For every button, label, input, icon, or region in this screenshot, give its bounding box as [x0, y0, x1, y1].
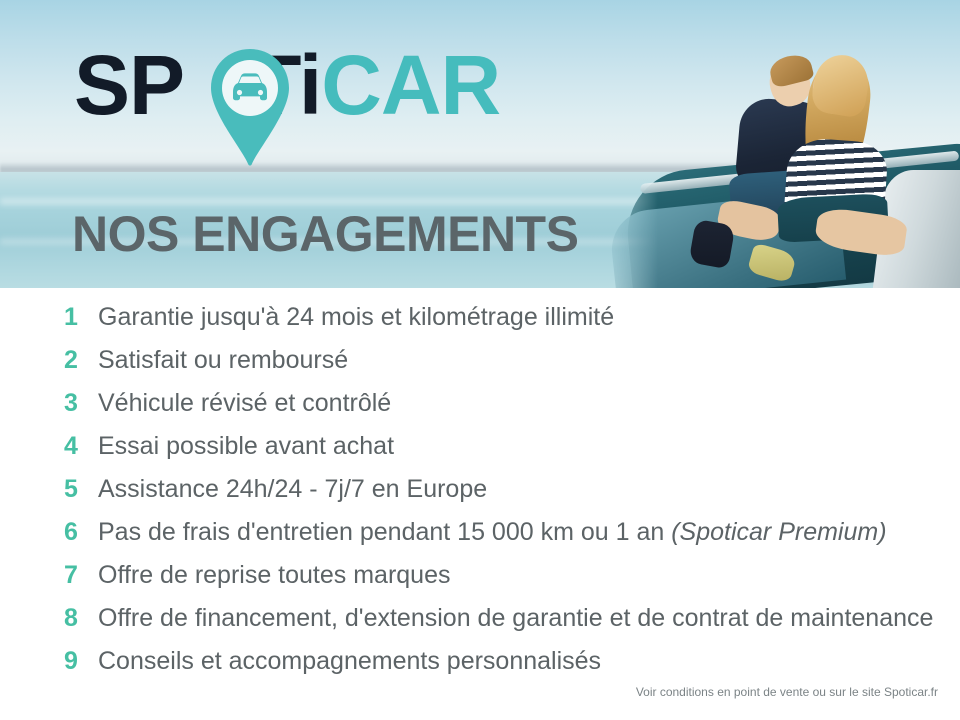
list-item: 2 Satisfait ou remboursé [64, 345, 348, 375]
list-item-text: Garantie jusqu'à 24 mois et kilométrage … [98, 302, 614, 332]
list-item-text: Conseils et accompagnements personnalisé… [98, 646, 601, 676]
woman-hair-front [810, 51, 873, 119]
list-item-number: 3 [64, 388, 98, 418]
child-boot [688, 219, 735, 269]
list-item-text: Offre de financement, d'extension de gar… [98, 603, 933, 633]
logo-text-car: CAR [321, 38, 500, 132]
list-item-number: 5 [64, 474, 98, 504]
list-item: 1 Garantie jusqu'à 24 mois et kilométrag… [64, 302, 614, 332]
page-title: NOS ENGAGEMENTS [72, 206, 578, 262]
list-item: 7 Offre de reprise toutes marques [64, 560, 451, 590]
list-item-number: 4 [64, 431, 98, 461]
list-item: 5 Assistance 24h/24 - 7j/7 en Europe [64, 474, 487, 504]
list-item-number: 1 [64, 302, 98, 332]
list-item: 6 Pas de frais d'entretien pendant 15 00… [64, 517, 887, 547]
list-item-text: Satisfait ou remboursé [98, 345, 348, 375]
hero-banner: SPTiCAR NOS ENGAGEMENTS [0, 0, 960, 288]
list-item-number: 6 [64, 517, 98, 547]
list-item-text: Pas de frais d'entretien pendant 15 000 … [98, 517, 887, 547]
list-item-number: 8 [64, 603, 98, 633]
list-item-text-main: Pas de frais d'entretien pendant 15 000 … [98, 518, 671, 546]
list-item: 9 Conseils et accompagnements personnali… [64, 646, 601, 676]
list-item-text: Véhicule révisé et contrôlé [98, 388, 391, 418]
commitments-list: 1 Garantie jusqu'à 24 mois et kilométrag… [0, 288, 960, 720]
list-item-text: Essai possible avant achat [98, 431, 394, 461]
list-item-text-emphasis: (Spoticar Premium) [671, 518, 886, 546]
map-pin-car-icon [206, 47, 294, 167]
list-item-text: Offre de reprise toutes marques [98, 560, 451, 590]
list-item: 4 Essai possible avant achat [64, 431, 394, 461]
list-item: 8 Offre de financement, d'extension de g… [64, 603, 933, 633]
list-item: 3 Véhicule révisé et contrôlé [64, 388, 391, 418]
list-item-text: Assistance 24h/24 - 7j/7 en Europe [98, 474, 487, 504]
disclaimer-text: Voir conditions en point de vente ou sur… [636, 684, 938, 700]
list-item-number: 2 [64, 345, 98, 375]
hero-photo [600, 0, 960, 288]
list-item-number: 9 [64, 646, 98, 676]
logo-text-sp: SP [74, 38, 184, 132]
spoticar-commitments-poster: SPTiCAR NOS ENGAGEMENTS 1 Garantie jusqu… [0, 0, 960, 720]
list-item-number: 7 [64, 560, 98, 590]
